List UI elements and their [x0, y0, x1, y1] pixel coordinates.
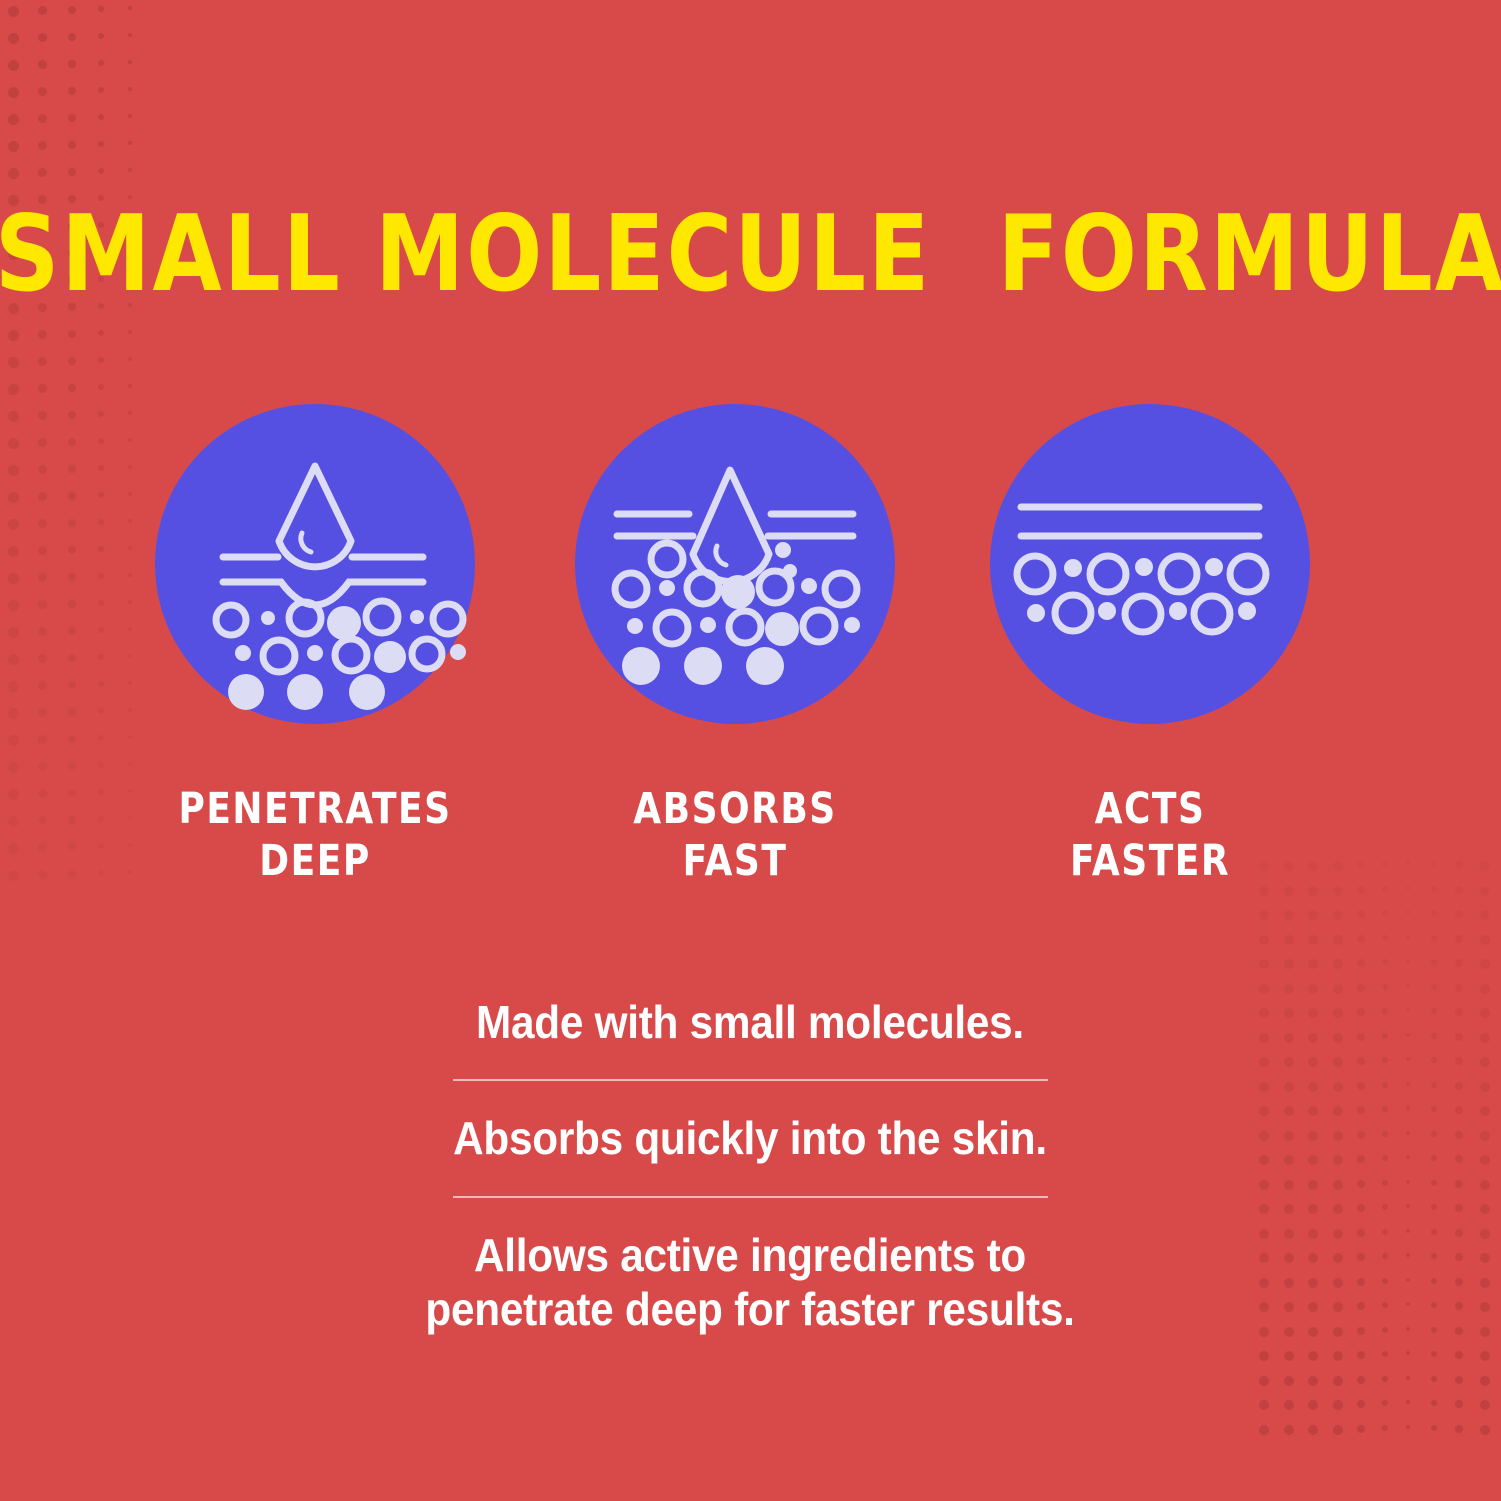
statement-divider — [453, 1196, 1048, 1198]
droplet-absorbing-through-skin-icon — [575, 404, 895, 724]
statement-list: Made with small molecules. Absorbs quick… — [310, 995, 1190, 1336]
feature-absorbs-fast[interactable]: ABSORBS FAST — [570, 404, 900, 872]
statement-divider — [453, 1079, 1048, 1081]
feature-row: PENETRATES DEEP — [0, 404, 1501, 884]
feature-penetrates-deep[interactable]: PENETRATES DEEP — [150, 404, 480, 872]
feature-label: ACTS FASTER — [985, 784, 1315, 888]
molecules-under-skin-icon — [990, 404, 1310, 724]
infographic-canvas: SMALL MOLECULE FORMULA — [0, 0, 1501, 1501]
statement-item: Allows active ingredients to penetrate d… — [345, 1228, 1155, 1337]
statement-item: Made with small molecules. — [345, 995, 1155, 1049]
feature-label: PENETRATES DEEP — [150, 784, 480, 888]
page-title: SMALL MOLECULE FORMULA — [0, 202, 1501, 307]
halftone-dots-bottom-right — [1255, 855, 1501, 1501]
droplet-penetrating-skin-icon — [155, 404, 475, 724]
feature-acts-faster[interactable]: ACTS FASTER — [985, 404, 1315, 872]
statement-item: Absorbs quickly into the skin. — [345, 1111, 1155, 1165]
feature-label: ABSORBS FAST — [570, 784, 900, 888]
